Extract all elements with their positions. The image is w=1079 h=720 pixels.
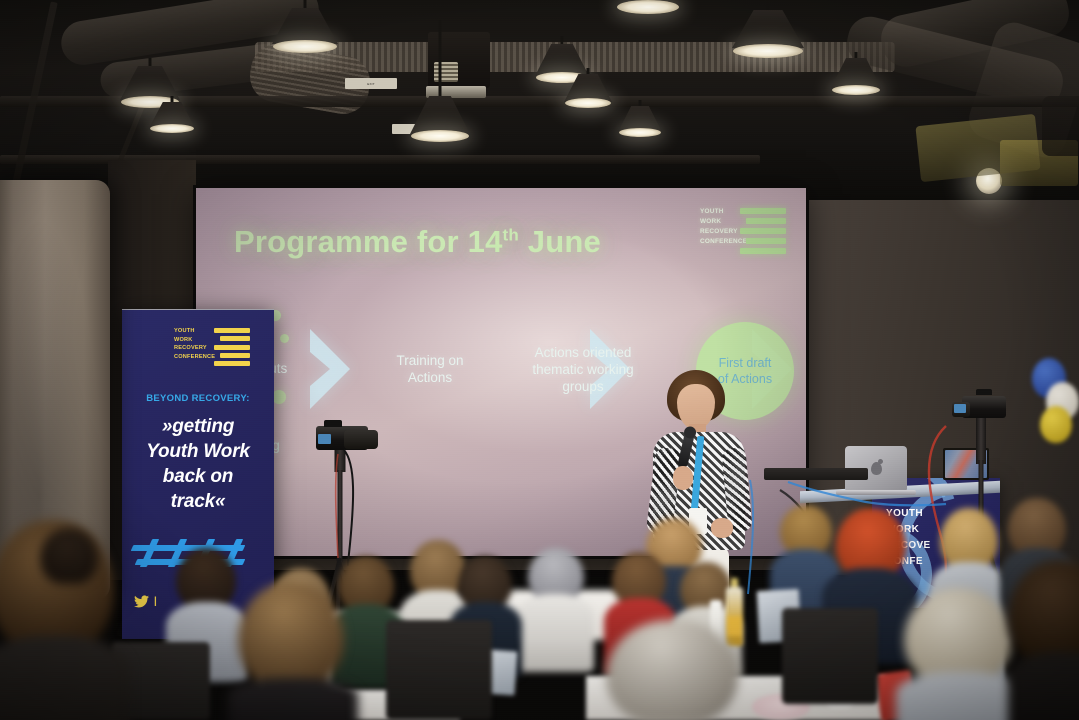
banner-headline-line-4: track«	[122, 489, 274, 514]
ceiling-projector	[428, 32, 490, 88]
banner-conference-logo: YOUTH WORK RECOVERY CONFERENCE	[174, 327, 252, 371]
slide-logo-bars-icon	[740, 208, 786, 254]
camera-lens	[344, 430, 378, 449]
foreground-attendee	[596, 620, 756, 720]
balloon-yellow	[1040, 406, 1072, 443]
banner-kicker: BEYOND RECOVERY:	[122, 393, 274, 404]
banner-top-rail	[122, 309, 274, 310]
ceiling-sign-text: EXIT	[367, 82, 374, 86]
foreground-attendee	[228, 582, 358, 720]
foreground-attendee	[896, 588, 1026, 720]
ceiling-speaker	[1042, 96, 1079, 156]
banner-social: |	[134, 595, 157, 608]
ceiling-sign: EXIT	[345, 78, 397, 89]
slide-conference-logo: YOUTH WORK RECOVERY CONFERENCE	[700, 206, 792, 258]
banner-headline-line-3: back on	[122, 464, 274, 489]
camera-screen	[954, 404, 966, 413]
speaker-hand-holding-mic	[673, 466, 693, 490]
slide-title-main: Programme for 14	[234, 224, 503, 259]
flow-step-label-3: Actions oriented thematic working groups	[508, 344, 658, 395]
banner-headline-line-2: Youth Work	[122, 439, 274, 464]
camera-cable	[330, 448, 370, 568]
speaker-other-hand	[711, 518, 733, 538]
flow-step-label-2: Training on Actions	[366, 352, 494, 386]
camera-screen	[318, 434, 331, 444]
audience-chair	[386, 620, 492, 720]
foreground-attendee	[1008, 560, 1079, 720]
banner-headline: »getting Youth Work back on track«	[122, 414, 274, 514]
slide-title: Programme for 14th June	[234, 224, 704, 260]
slide-title-tail: June	[519, 224, 601, 259]
twitter-bird-icon	[134, 595, 149, 608]
camera-hotshoe	[324, 420, 342, 427]
banner-headline-line-1: »getting	[122, 414, 274, 439]
av-rack-shelf	[764, 468, 868, 480]
audience-chair	[782, 608, 878, 704]
banner-logo-bars-icon	[214, 328, 250, 366]
camera-hotshoe	[976, 389, 992, 395]
conference-photo-scene: EXIT EXIT	[0, 0, 1079, 720]
audience-member	[516, 548, 594, 668]
slide-title-superscript: th	[503, 226, 519, 245]
foreground-attendee	[34, 528, 106, 638]
banner-social-handle: |	[154, 596, 157, 607]
